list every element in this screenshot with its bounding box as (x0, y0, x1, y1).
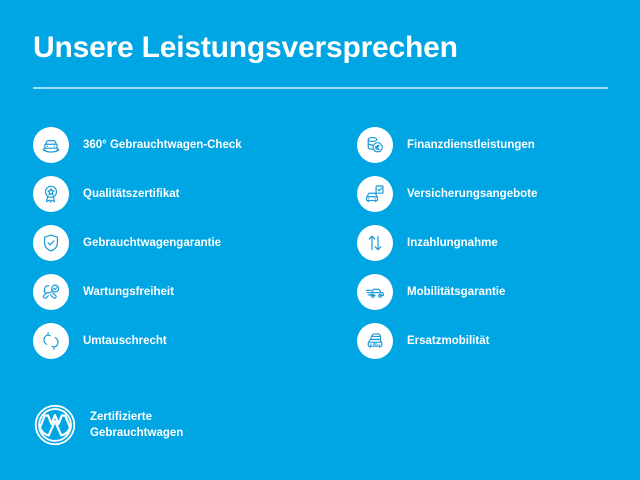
wrench-check-icon (33, 274, 69, 310)
page-title: Unsere Leistungsversprechen (33, 30, 608, 66)
promise-poster: Unsere Leistungsversprechen (0, 0, 640, 480)
footer-line-1: Zertifizierte (90, 409, 183, 425)
benefit-item[interactable]: Versicherungsangebote (357, 176, 640, 212)
up-down-arrows-icon (357, 225, 393, 261)
benefit-label: Wartungsfreiheit (83, 285, 174, 299)
benefit-label: 360° Gebrauchtwagen-Check (83, 138, 242, 152)
benefit-item[interactable]: Ersatzmobilität (357, 323, 640, 359)
car-motion-icon (357, 274, 393, 310)
car-360-check-icon (33, 127, 69, 163)
benefit-item[interactable]: Wartungsfreiheit (33, 274, 320, 310)
footer-line-2: Gebrauchtwagen (90, 425, 183, 441)
coins-euro-icon (357, 127, 393, 163)
benefit-label: Versicherungsangebote (407, 187, 537, 201)
volkswagen-logo (33, 403, 77, 447)
benefit-label: Finanzdienstleistungen (407, 138, 535, 152)
benefit-label: Inzahlungnahme (407, 236, 498, 250)
two-cars-icon (357, 323, 393, 359)
benefit-item[interactable]: 360° Gebrauchtwagen-Check (33, 127, 320, 163)
benefits-column-left: 360° Gebrauchtwagen-Check Qualitätszerti… (0, 127, 320, 372)
benefit-label: Mobilitätsgarantie (407, 285, 505, 299)
header-divider (33, 87, 608, 89)
benefit-item[interactable]: Inzahlungnahme (357, 225, 640, 261)
award-rosette-icon (33, 176, 69, 212)
benefit-label: Ersatzmobilität (407, 334, 489, 348)
benefit-label: Umtauschrecht (83, 334, 167, 348)
header: Unsere Leistungsversprechen (33, 30, 608, 89)
footer-text: Zertifizierte Gebrauchtwagen (90, 409, 183, 441)
benefit-label: Qualitätszertifikat (83, 187, 180, 201)
car-document-icon (357, 176, 393, 212)
benefit-item[interactable]: Mobilitätsgarantie (357, 274, 640, 310)
benefits-grid: 360° Gebrauchtwagen-Check Qualitätszerti… (0, 127, 640, 372)
benefit-label: Gebrauchtwagengarantie (83, 236, 221, 250)
benefit-item[interactable]: Qualitätszertifikat (33, 176, 320, 212)
benefit-item[interactable]: Umtauschrecht (33, 323, 320, 359)
benefit-item[interactable]: Finanzdienstleistungen (357, 127, 640, 163)
benefits-column-right: Finanzdienstleistungen Versicherungsange… (320, 127, 640, 372)
footer-logo-lockup: Zertifizierte Gebrauchtwagen (33, 403, 183, 447)
shield-check-icon (33, 225, 69, 261)
benefit-item[interactable]: Gebrauchtwagengarantie (33, 225, 320, 261)
exchange-arrows-icon (33, 323, 69, 359)
